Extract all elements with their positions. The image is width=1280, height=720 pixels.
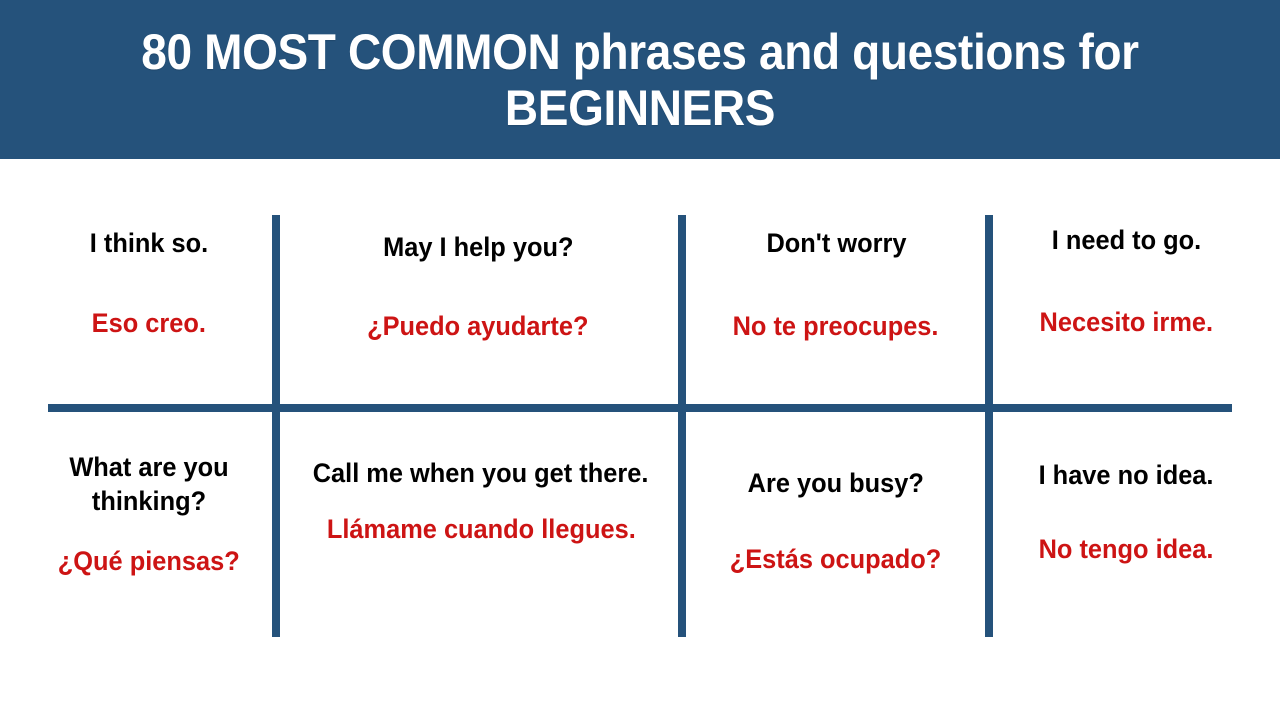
- phrase-grid: I think so. Eso creo. May I help you? ¿P…: [0, 159, 1280, 720]
- phrase-english: May I help you?: [383, 231, 573, 265]
- phrase-spanish: No te preocupes.: [733, 310, 939, 344]
- page-title-line-2: BEGINNERS: [505, 80, 775, 136]
- phrase-cell: Call me when you get there. Llámame cuan…: [286, 457, 676, 547]
- phrase-english: I think so.: [90, 227, 208, 261]
- phrase-spanish: No tengo idea.: [1039, 533, 1214, 567]
- phrase-cell: I need to go. Necesito irme.: [1000, 224, 1252, 340]
- phrase-english: Don't worry: [766, 227, 906, 261]
- phrase-english: Are you busy?: [748, 467, 924, 501]
- phrase-spanish: ¿Qué piensas?: [58, 545, 240, 579]
- phrase-english: I have no idea.: [1039, 459, 1214, 493]
- vertical-divider-2: [678, 215, 686, 637]
- phrase-spanish: Necesito irme.: [1039, 306, 1213, 340]
- phrase-spanish: Llámame cuando llegues.: [327, 513, 636, 547]
- phrase-cell: What are you thinking? ¿Qué piensas?: [26, 451, 272, 578]
- header-banner: 80 MOST COMMON phrases and questions for…: [0, 0, 1280, 159]
- vertical-divider-3: [985, 215, 993, 637]
- phrase-cell: May I help you? ¿Puedo ayudarte?: [286, 231, 670, 344]
- phrase-spanish: Eso creo.: [92, 307, 206, 341]
- phrase-spanish: ¿Puedo ayudarte?: [367, 310, 588, 344]
- phrase-cell: Are you busy? ¿Estás ocupado?: [692, 467, 980, 577]
- phrase-spanish: ¿Estás ocupado?: [730, 543, 942, 577]
- phrase-cell: I think so. Eso creo.: [26, 227, 272, 341]
- phrase-cell: I have no idea. No tengo idea.: [1000, 459, 1252, 567]
- phrase-cell: Don't worry No te preocupes.: [692, 227, 980, 344]
- vertical-divider-1: [272, 215, 280, 637]
- horizontal-divider: [48, 404, 1232, 412]
- page-title-line-1: 80 MOST COMMON phrases and questions for: [141, 24, 1138, 80]
- phrase-english: What are you thinking?: [39, 451, 259, 519]
- phrase-english: I need to go.: [1051, 224, 1200, 258]
- page-title: 80 MOST COMMON phrases and questions for…: [97, 24, 1183, 136]
- phrase-english: Call me when you get there.: [313, 457, 649, 491]
